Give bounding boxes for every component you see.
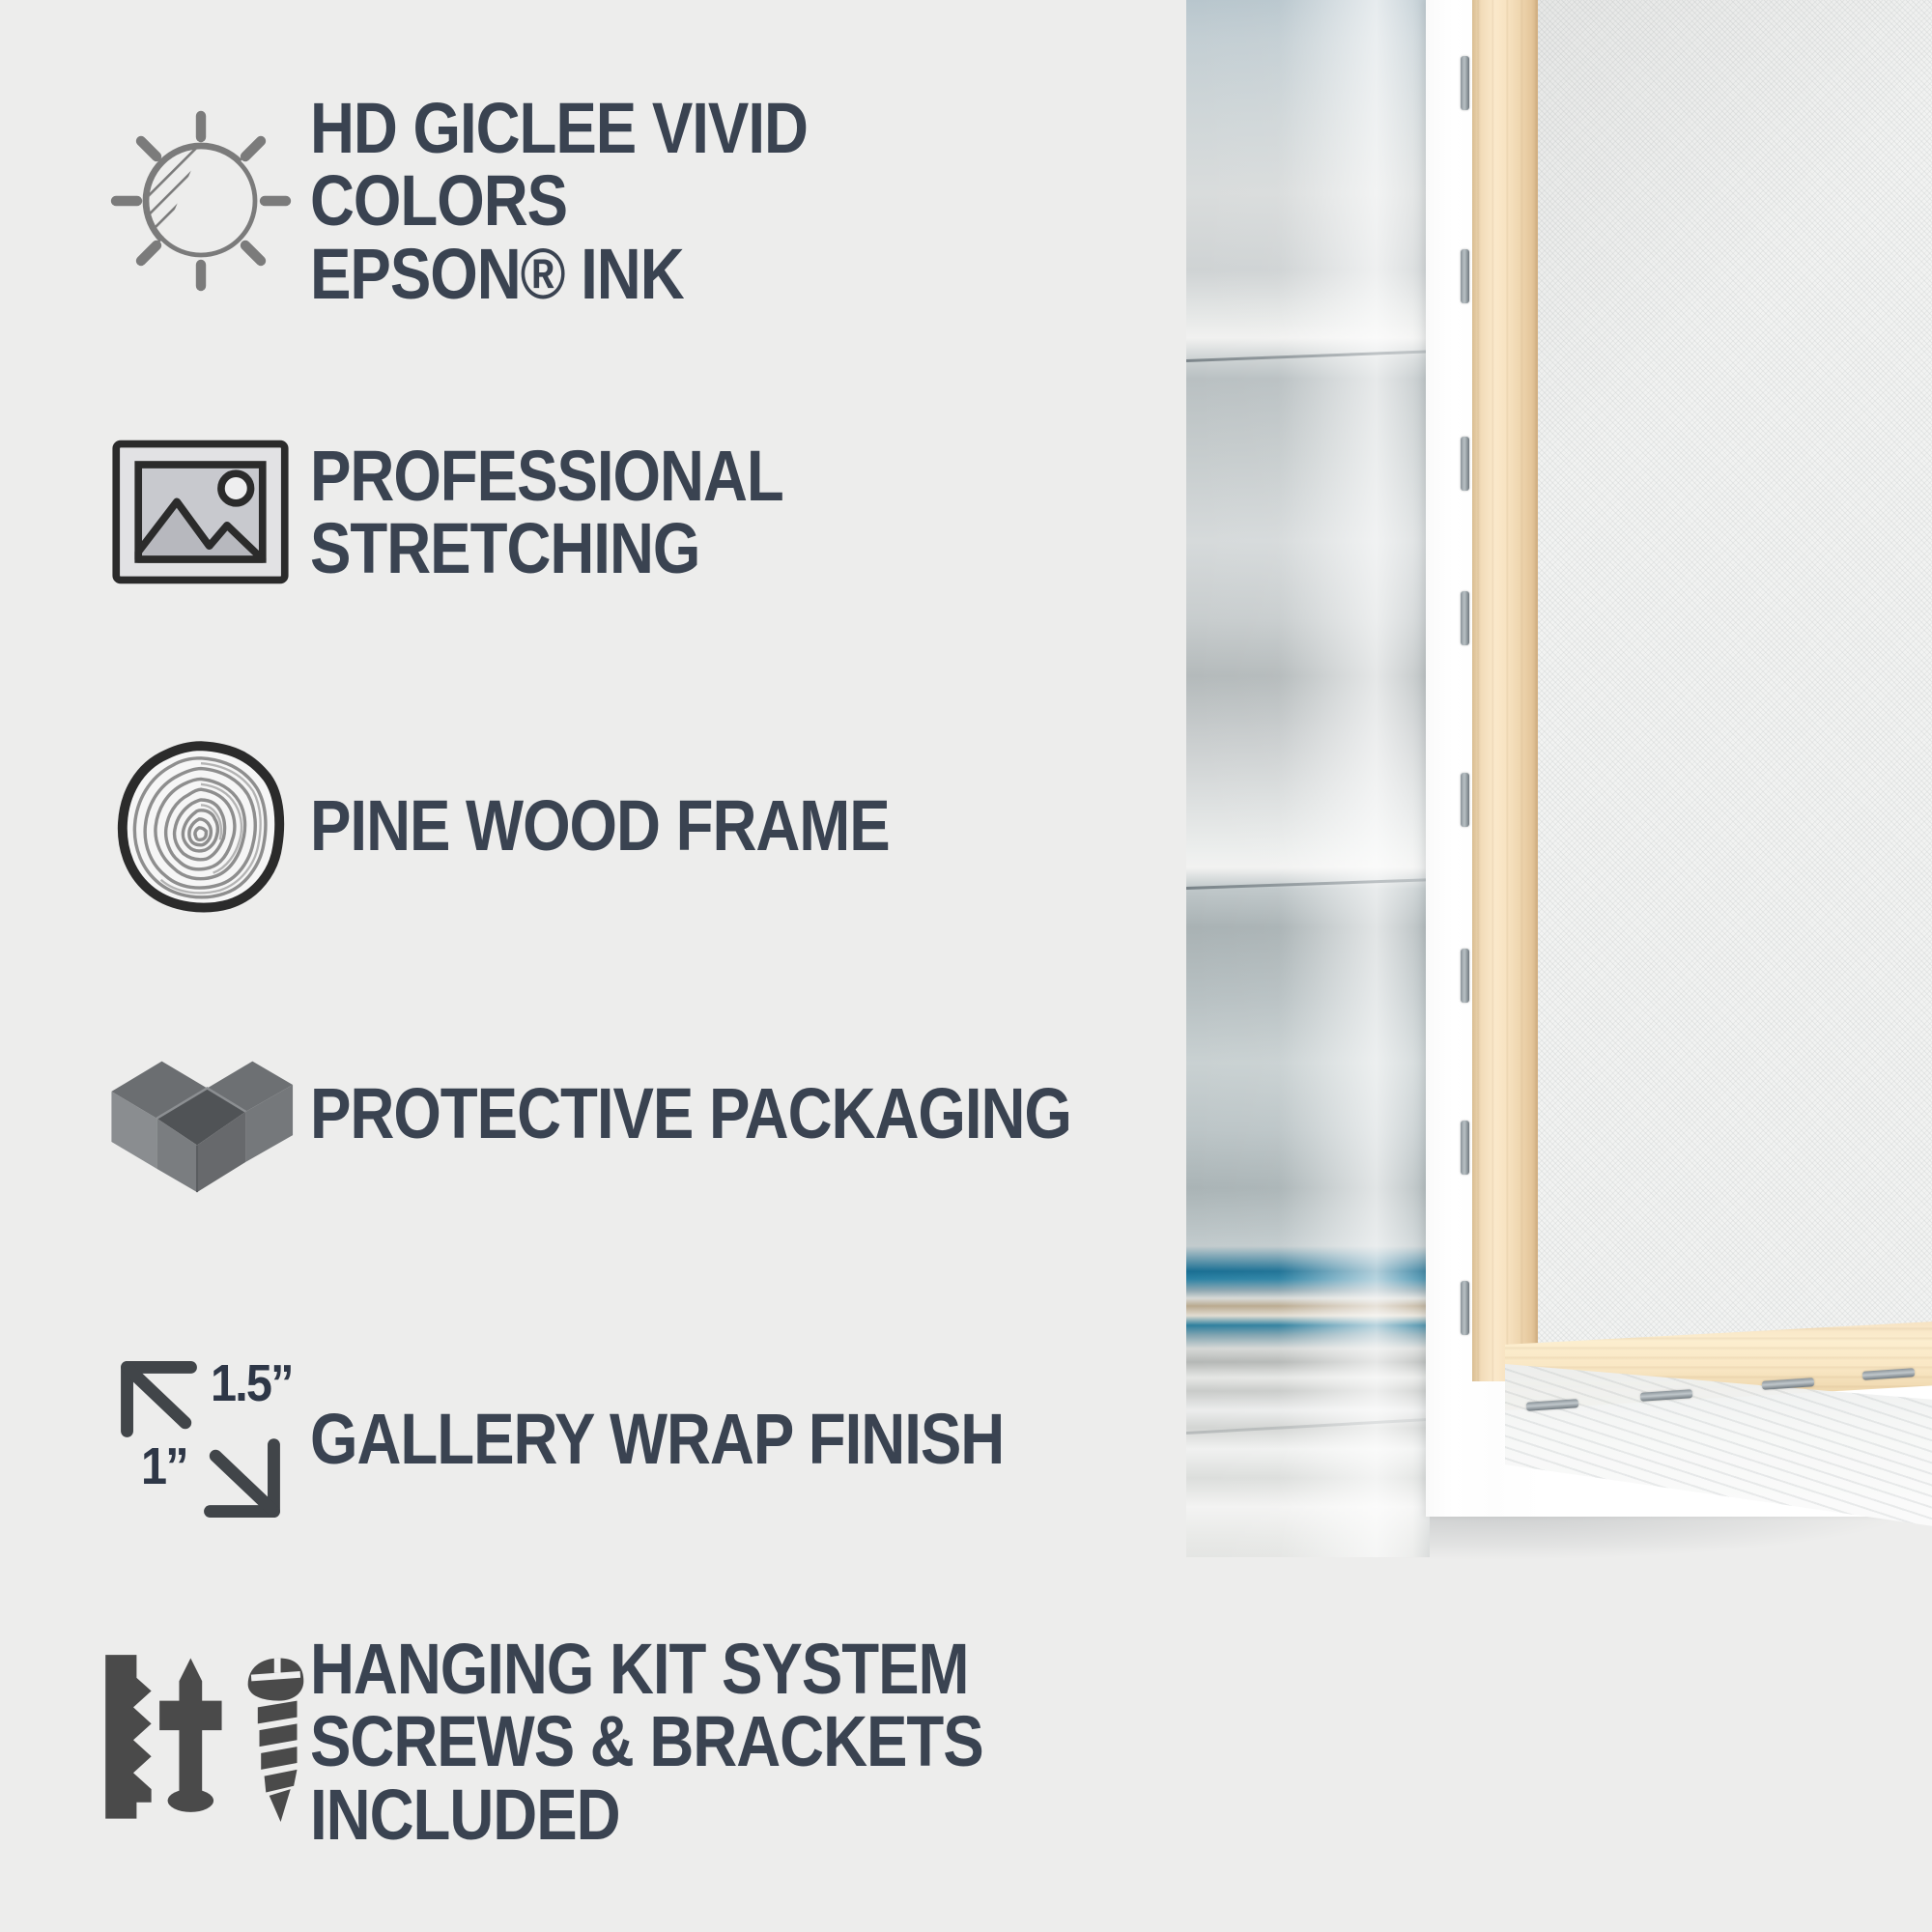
feature-label-gallerywrap: GALLERY WRAP FINISH: [310, 1403, 1004, 1475]
feature-label-packaging: PROTECTIVE PACKAGING: [310, 1077, 1071, 1150]
feature-icon-slot: [97, 440, 304, 584]
gallery-wrap-thickness-label: 1”: [141, 1436, 187, 1496]
feature-row-giclee: HD GICLEE VIVID COLORS EPSON® INK: [97, 92, 1198, 310]
dimension-arrows-icon: 1.5” 1”: [97, 1348, 304, 1531]
staple: [1461, 249, 1469, 303]
pine-stretcher-bar-vertical: [1472, 0, 1538, 1381]
sun-print-icon: [104, 104, 298, 298]
staple: [1461, 56, 1469, 110]
picture-frame-icon: [111, 440, 290, 584]
staple: [1461, 1281, 1469, 1335]
feature-row-hangingkit: HANGING KIT SYSTEM SCREWS & BRACKETS INC…: [97, 1633, 1198, 1851]
open-box-icon: [101, 1024, 299, 1203]
feature-row-gallerywrap: 1.5” 1” GALLERY WRAP FINISH: [97, 1348, 1117, 1531]
canvas-textile-field: [1534, 0, 1932, 1345]
product-photo: [1186, 0, 1932, 1584]
staple: [1461, 773, 1469, 827]
feature-icon-slot: [97, 1024, 304, 1203]
feature-icon-slot: [97, 104, 304, 298]
staple: [1461, 591, 1469, 645]
infographic-root: HD GICLEE VIVID COLORS EPSON® INK PROFES…: [0, 0, 1932, 1932]
canvas-wrapped-edge: [1186, 0, 1430, 1557]
feature-icon-slot: [97, 739, 304, 913]
feature-row-packaging: PROTECTIVE PACKAGING: [97, 1024, 1195, 1203]
staple: [1461, 437, 1469, 491]
feature-row-pinewood: PINE WOOD FRAME: [97, 739, 983, 913]
feature-icon-slot: [97, 1645, 304, 1838]
feature-label-pinewood: PINE WOOD FRAME: [310, 789, 890, 862]
feature-label-stretching: PROFESSIONAL STRETCHING: [310, 440, 1073, 585]
gallery-wrap-depth-label: 1.5”: [211, 1353, 293, 1413]
hanging-hardware-icon: [97, 1645, 304, 1838]
feature-list: HD GICLEE VIVID COLORS EPSON® INK PROFES…: [0, 0, 1198, 1932]
staple: [1461, 1121, 1469, 1175]
staple: [1461, 949, 1469, 1003]
feature-icon-slot: 1.5” 1”: [97, 1348, 304, 1531]
feature-label-giclee: HD GICLEE VIVID COLORS EPSON® INK: [310, 92, 1073, 310]
feature-row-stretching: PROFESSIONAL STRETCHING: [97, 440, 1198, 585]
feature-label-hangingkit: HANGING KIT SYSTEM SCREWS & BRACKETS INC…: [310, 1633, 1073, 1851]
tree-rings-icon: [114, 739, 288, 913]
